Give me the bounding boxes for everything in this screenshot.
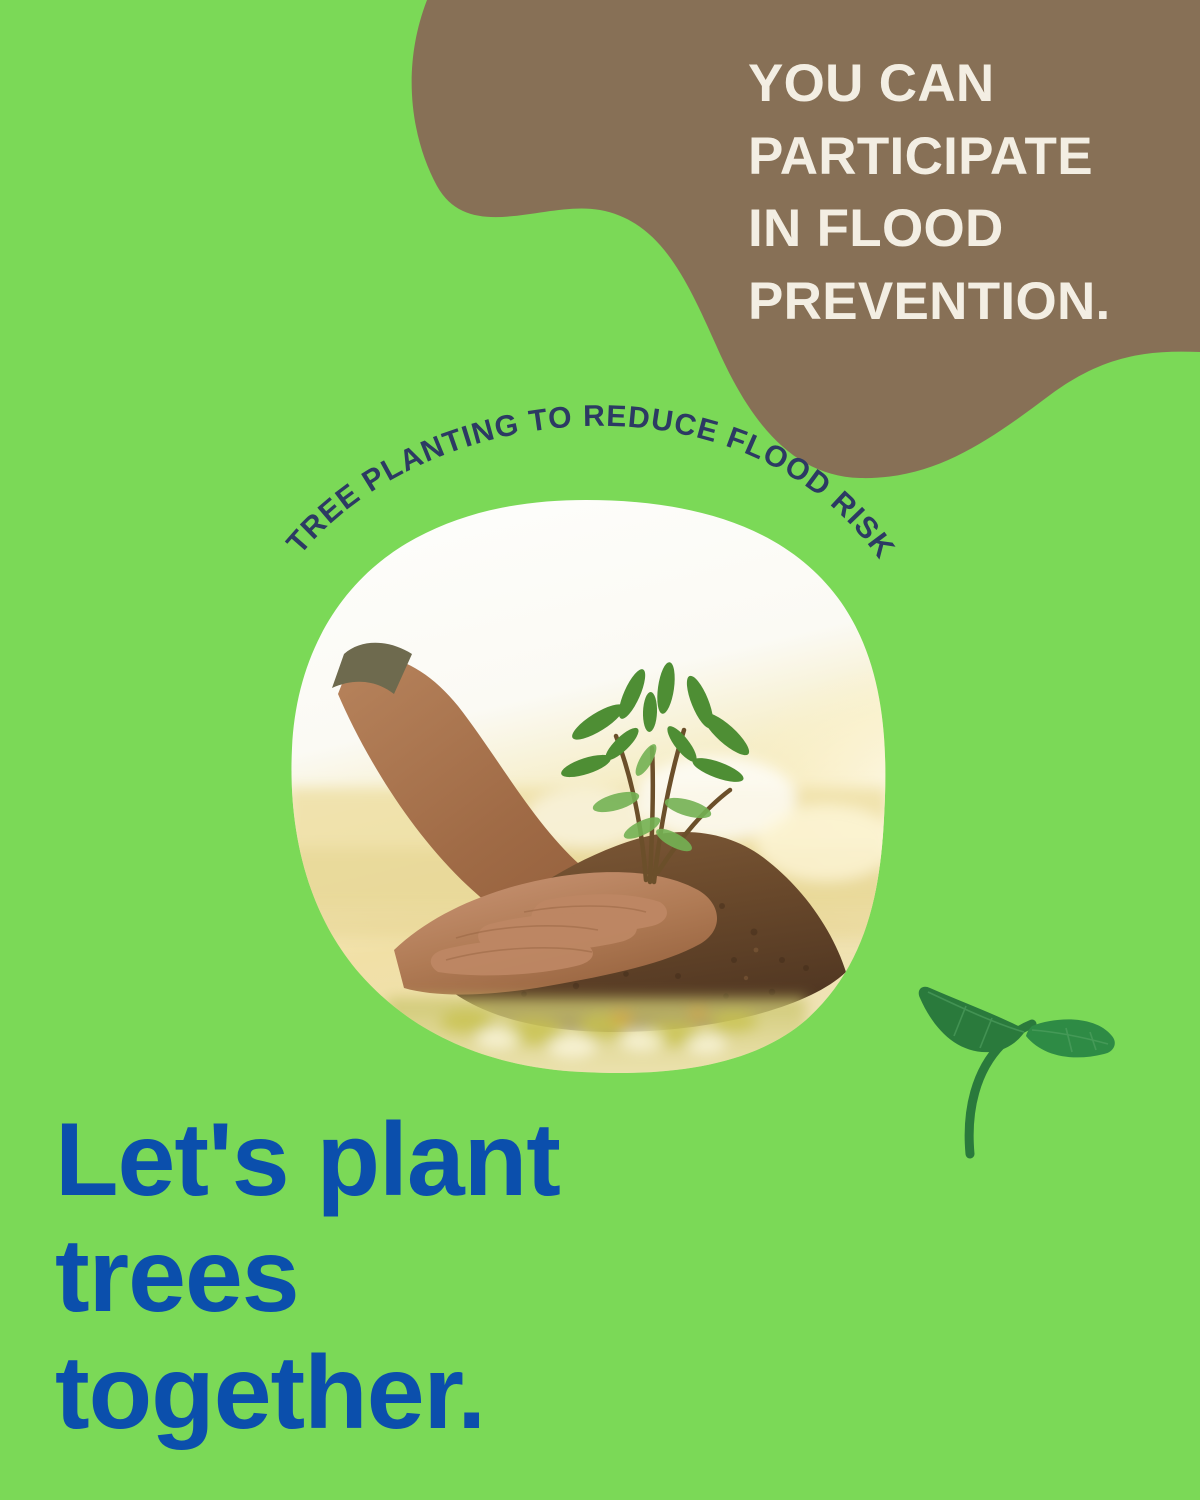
sprout-icon	[900, 958, 1125, 1163]
arc-caption-textpath: TREE PLANTING TO REDUCE FLOOD RISK	[281, 400, 902, 565]
main-headline: Let's plant trees together.	[55, 1102, 695, 1451]
photo-foreground-grass	[386, 998, 806, 1076]
poster-canvas: YOU CAN PARTICIPATE IN FLOOD PREVENTION.	[0, 0, 1200, 1500]
kicker-headline: YOU CAN PARTICIPATE IN FLOOD PREVENTION.	[748, 48, 1148, 338]
sprout-leaf-right	[1026, 1019, 1115, 1057]
sprout-leaf-left	[919, 987, 1026, 1052]
arc-caption: TREE PLANTING TO REDUCE FLOOD RISK	[240, 420, 940, 670]
arc-caption-text: TREE PLANTING TO REDUCE FLOOD RISK	[281, 400, 902, 565]
